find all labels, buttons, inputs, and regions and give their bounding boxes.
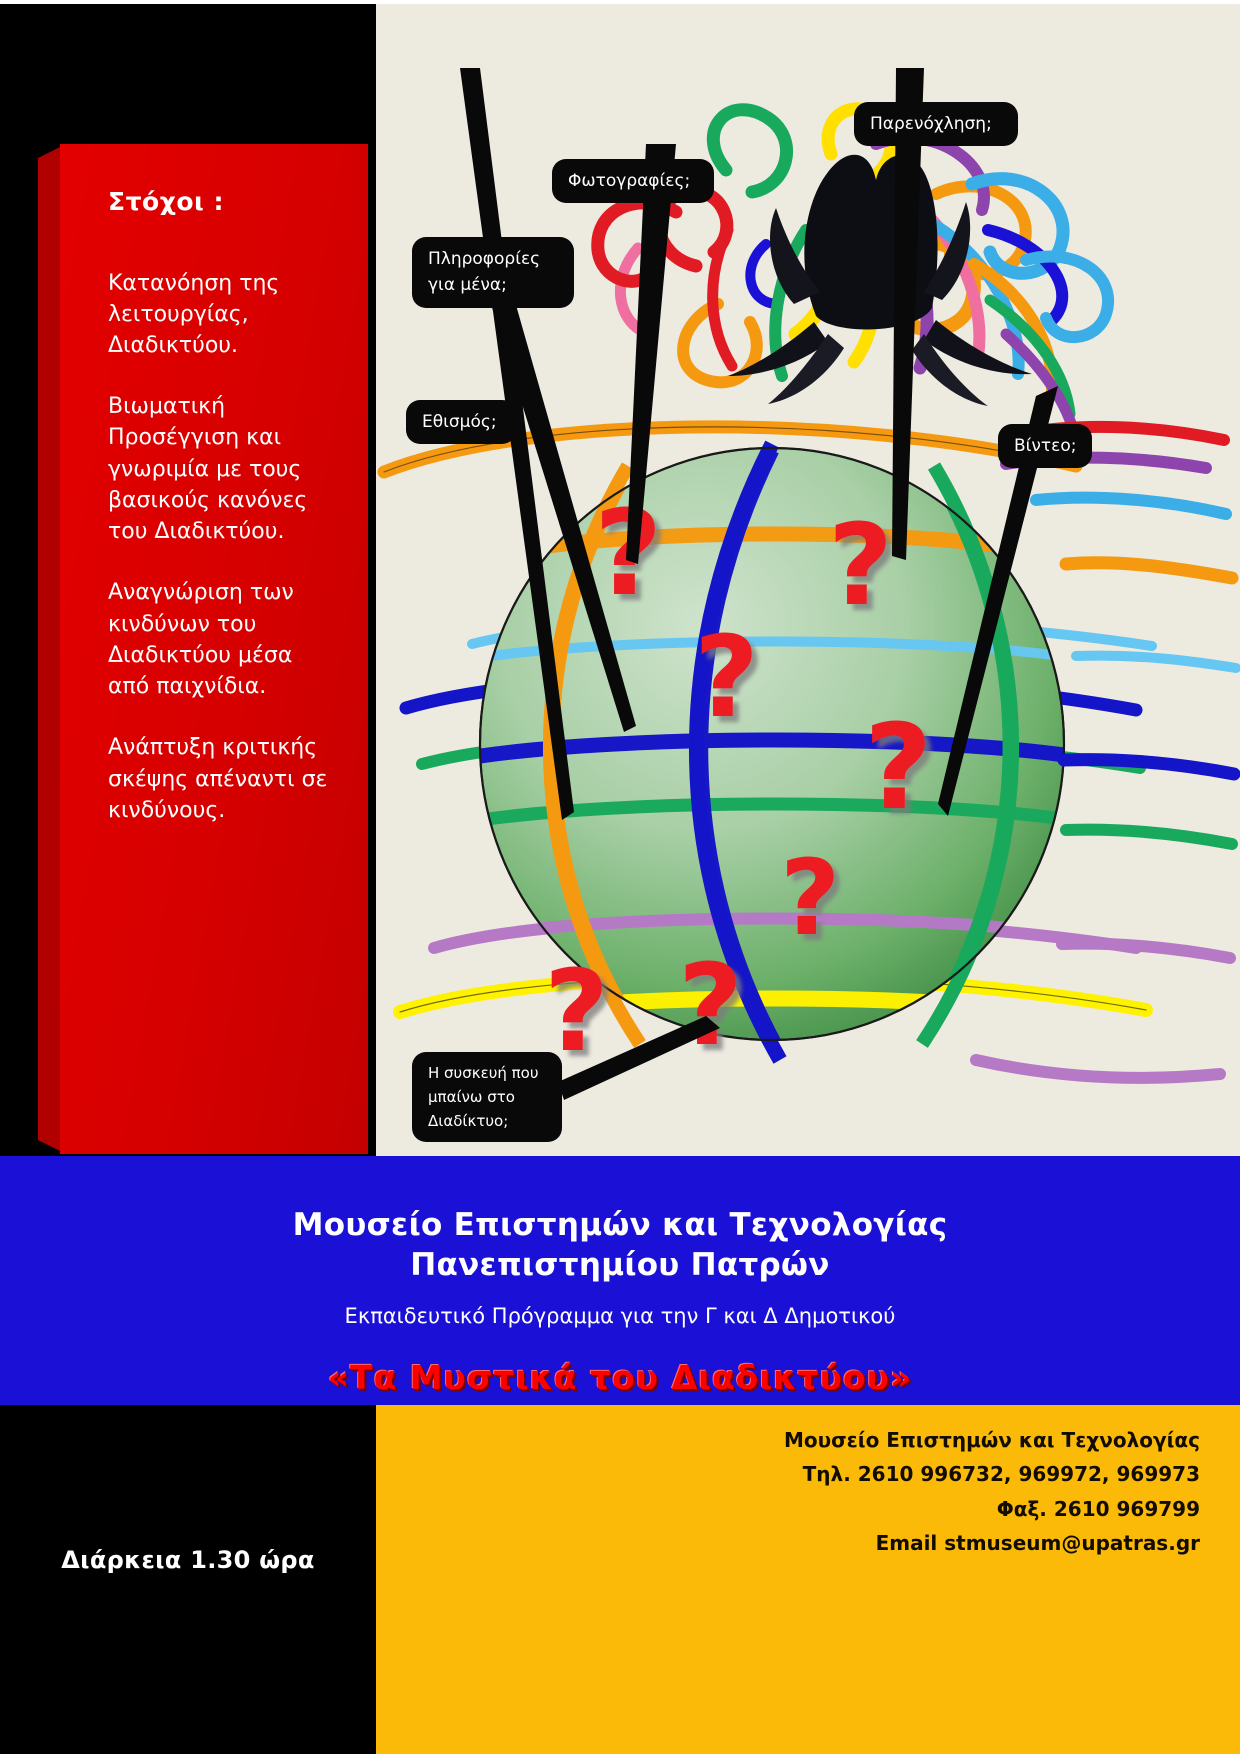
- contact-details: Μουσείο Επιστημών και Τεχνολογίας Τηλ. 2…: [480, 1423, 1200, 1561]
- museum-title-line2: Πανεπιστημίου Πατρών: [0, 1246, 1240, 1286]
- goals-panel-face: Στόχοι : Κατανόηση της λειτουργίας, Διαδ…: [60, 144, 368, 1154]
- goal-item: Κατανόηση της λειτουργίας, Διαδικτύου.: [108, 268, 338, 362]
- contact-line: Τηλ. 2610 996732, 969972, 969973: [480, 1457, 1200, 1491]
- artwork-panel: ? ? ? ? ? ? ?: [376, 4, 1240, 1156]
- museum-banner: Μουσείο Επιστημών και Τεχνολογίας Πανεπι…: [0, 1156, 1240, 1405]
- bottom-section: Διάρκεια 1.30 ώρα Μουσείο Επιστημών και …: [0, 1405, 1240, 1754]
- bubble-device: Η συσκευή που μπαίνω στο Διαδίκτυο;: [412, 1052, 562, 1142]
- goals-panel: Στόχοι : Κατανόηση της λειτουργίας, Διαδ…: [38, 144, 368, 1154]
- bubble-my-info: Πληροφορίες για μένα;: [412, 237, 574, 308]
- bubble-photos: Φωτογραφίες;: [552, 159, 714, 203]
- duration-text: Διάρκεια 1.30 ώρα: [0, 1405, 376, 1574]
- program-subtitle: Εκπαιδευτικό Πρόγραμμα για την Γ και Δ Δ…: [0, 1285, 1240, 1328]
- program-title: «Τα Μυστικά του Διαδικτύου»: [0, 1328, 1240, 1397]
- contact-line: Email stmuseum@upatras.gr: [480, 1526, 1200, 1560]
- question-mark: ?: [678, 941, 743, 1071]
- goal-item: Βιωματική Προσέγγιση και γνωριμία με του…: [108, 391, 338, 547]
- question-mark: ?: [864, 698, 932, 836]
- top-border: [0, 0, 1240, 4]
- bubble-video: Βίντεο;: [998, 424, 1092, 468]
- museum-title-line1: Μουσείο Επιστημών και Τεχνολογίας: [0, 1156, 1240, 1246]
- bubble-harassment: Παρενόχληση;: [854, 102, 1018, 146]
- contact-line: Φαξ. 2610 969799: [480, 1492, 1200, 1526]
- goal-item: Αναγνώριση των κινδύνων του Διαδικτύου μ…: [108, 577, 338, 702]
- goal-item: Ανάπτυξη κριτικής σκέψης απέναντι σε κιν…: [108, 732, 338, 826]
- bubble-addiction: Εθισμός;: [406, 400, 516, 444]
- poster-root: ? ? ? ? ? ? ?: [0, 0, 1240, 1754]
- question-mark: ?: [780, 837, 840, 959]
- question-mark: ?: [828, 501, 893, 631]
- contact-block: Μουσείο Επιστημών και Τεχνολογίας Τηλ. 2…: [376, 1405, 1240, 1754]
- duration-block: Διάρκεια 1.30 ώρα: [0, 1405, 376, 1754]
- question-mark: ?: [694, 613, 759, 743]
- globe-illustration: ? ? ? ? ? ? ?: [376, 4, 1240, 1156]
- contact-line: Μουσείο Επιστημών και Τεχνολογίας: [480, 1423, 1200, 1457]
- goals-title: Στόχοι :: [108, 188, 338, 216]
- upper-section: ? ? ? ? ? ? ?: [0, 4, 1240, 1156]
